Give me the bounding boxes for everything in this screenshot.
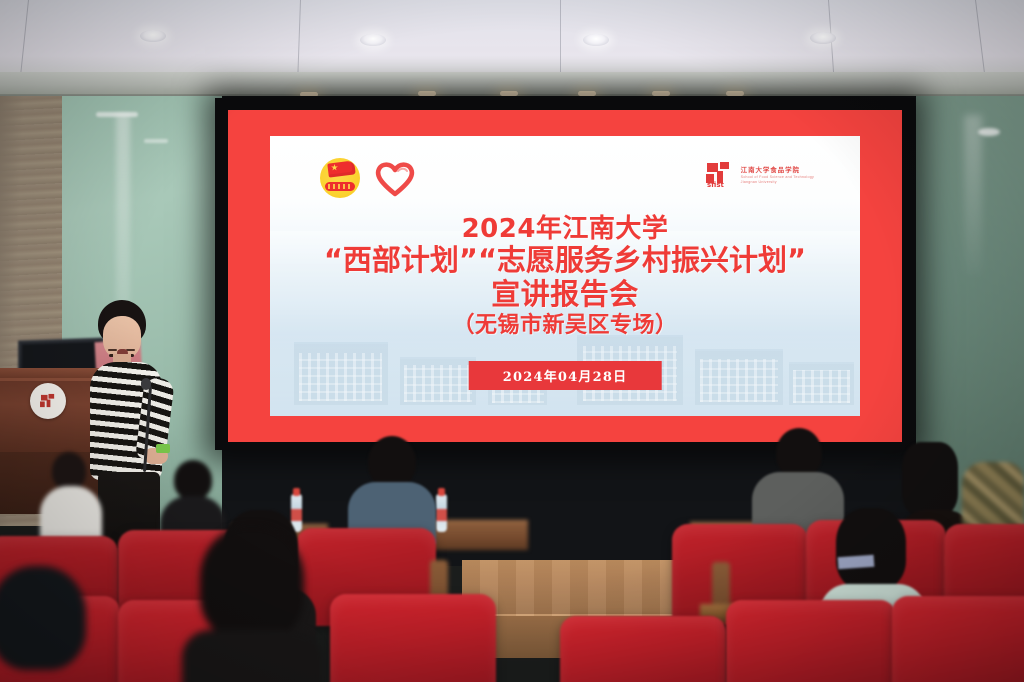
wall-downlight: [978, 128, 1000, 136]
slide-title-line-1: 2024年江南大学: [270, 214, 860, 244]
wall-highlight: [96, 112, 138, 117]
heart-icon: [374, 159, 416, 197]
slide-title-line-3: 宣讲报告会: [270, 278, 860, 312]
auditorium-seat[interactable]: [726, 600, 896, 682]
auditorium-seat[interactable]: [330, 594, 496, 682]
center-table: [462, 560, 698, 616]
slide-logo-group: [320, 158, 416, 198]
sfist-mark-icon: sfist: [704, 160, 734, 188]
auditorium-seat[interactable]: [560, 616, 726, 682]
school-name-en2: Jiangnan University: [741, 180, 814, 184]
audience-person: [348, 436, 436, 540]
projection-screen[interactable]: sfist 江南大学食品学院 School of Food Science an…: [215, 98, 915, 450]
slide-content: sfist 江南大学食品学院 School of Food Science an…: [270, 136, 860, 416]
ceiling-seam: [560, 0, 561, 78]
lanyard-tag: [156, 444, 170, 453]
slide-title-line-4: （无锡市新吴区专场）: [270, 313, 860, 339]
audience-person-foreground: [0, 566, 120, 682]
wall-highlight: [144, 139, 168, 143]
audience-person: [40, 452, 102, 538]
ceiling-downlight: [810, 32, 836, 44]
presentation-slide: sfist 江南大学食品学院 School of Food Science an…: [228, 110, 902, 442]
lecture-hall-photo: sfist 江南大学食品学院 School of Food Science an…: [0, 0, 1024, 682]
ceiling-downlight: [583, 34, 609, 46]
ceiling-downlight: [360, 34, 386, 46]
youth-league-emblem-icon: [320, 158, 360, 198]
svg-text:sfist: sfist: [707, 181, 725, 188]
auditorium-seat[interactable]: [892, 596, 1024, 682]
microphone-icon: [141, 378, 151, 390]
audience-person-foreground: [182, 526, 322, 682]
school-name-cn: 江南大学食品学院: [741, 164, 814, 174]
podium-emblem-icon: [30, 383, 66, 419]
water-bottle: [436, 494, 447, 532]
notebook: [838, 555, 875, 569]
slide-date-banner: 2024年04月28日: [469, 361, 662, 390]
school-logo: sfist 江南大学食品学院 School of Food Science an…: [704, 160, 814, 188]
slide-title-line-2: “西部计划”“志愿服务乡村振兴计划”: [270, 244, 860, 278]
ceiling-downlight: [140, 30, 166, 42]
slide-title-block: 2024年江南大学 “西部计划”“志愿服务乡村振兴计划” 宣讲报告会 （无锡市新…: [270, 214, 860, 339]
school-name-en: School of Food Science and Technology: [741, 175, 814, 179]
